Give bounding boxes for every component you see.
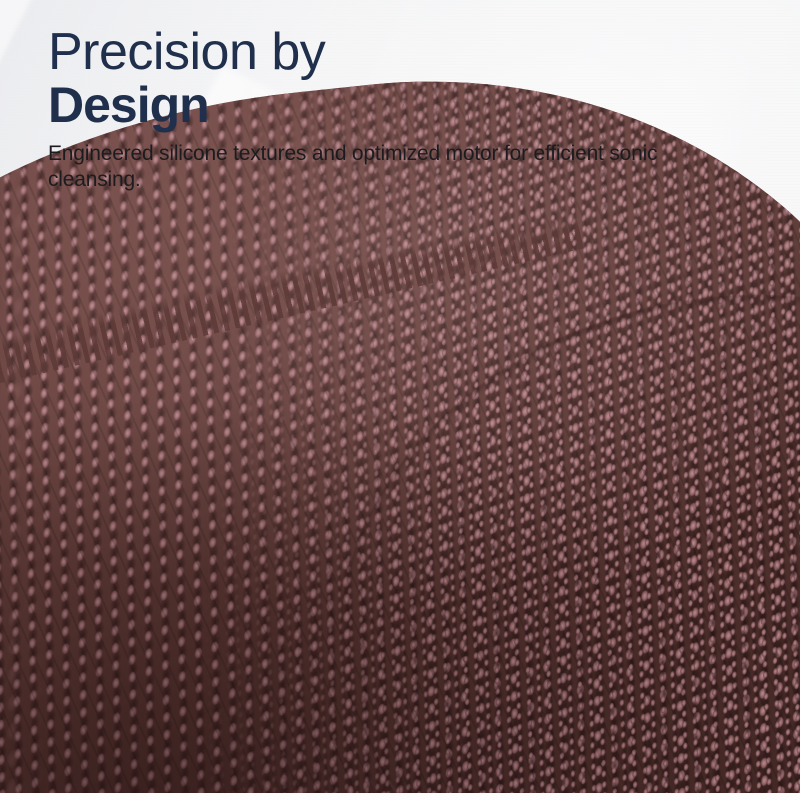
subtitle-text: Engineered silicone textures and optimiz… bbox=[48, 141, 698, 192]
headline-line-2: Design bbox=[48, 80, 748, 130]
bottom-white-strip bbox=[0, 793, 800, 800]
copy-block: Precision by Design Engineered silicone … bbox=[48, 26, 748, 213]
product-hero-image: Precision by Design Engineered silicone … bbox=[0, 0, 800, 800]
page-title: Precision by Design bbox=[48, 26, 748, 130]
headline-line-1: Precision by bbox=[48, 26, 748, 78]
